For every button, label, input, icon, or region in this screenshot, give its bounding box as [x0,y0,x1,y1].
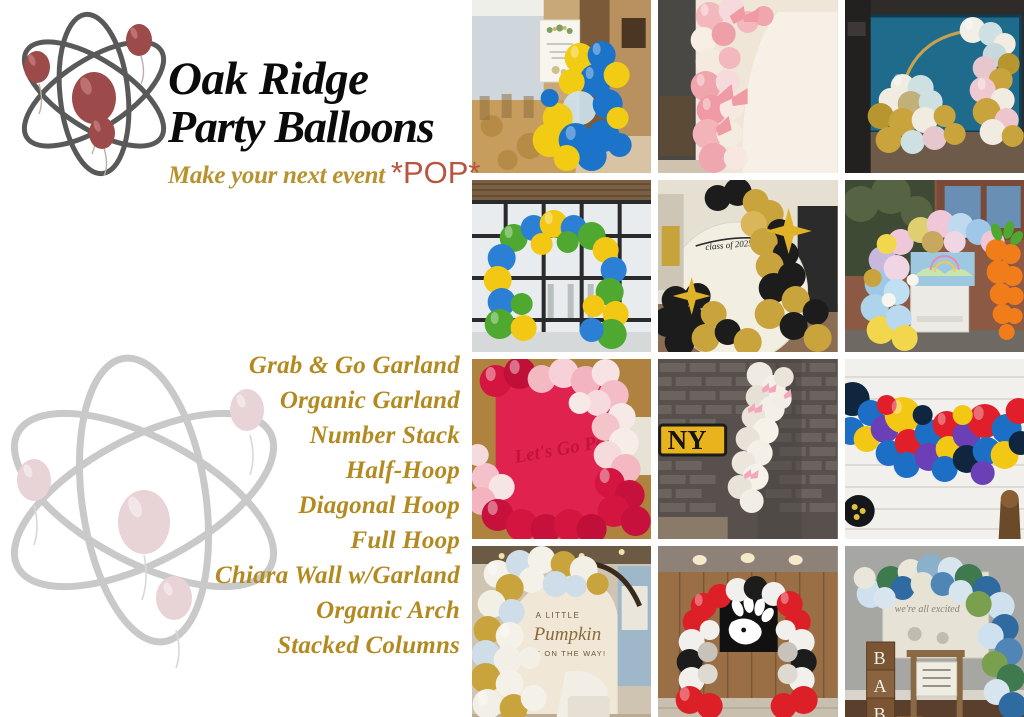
gallery-photo [658,546,837,717]
service-item: Chiara Wall w/Garland [120,558,460,593]
svg-text:B: B [873,648,885,668]
page-title-line-1: Oak Ridge [168,56,478,102]
svg-text:we're all excited: we're all excited [894,604,960,615]
gallery-photo [845,359,1024,539]
service-item: Stacked Columns [120,628,460,663]
svg-text:NY: NY [668,425,707,455]
flyer-page: Oak Ridge Party Balloons Make your next … [0,0,1024,717]
services-list: Grab & Go Garland Organic Garland Number… [120,348,460,663]
brand-text-block: Oak Ridge Party Balloons Make your next … [168,56,478,191]
gallery-photo [845,0,1024,173]
gallery-photo [472,180,651,352]
photo-gallery-grid: class of 2025 [472,0,1024,717]
service-item: Organic Garland [120,383,460,418]
svg-text:A LITTLE: A LITTLE [536,611,581,620]
svg-text:Pumpkin: Pumpkin [533,624,602,645]
tagline-pop-text: *POP* [391,155,481,191]
gallery-photo [472,0,651,173]
service-item: Half-Hoop [120,453,460,488]
tagline: Make your next event *POP* [168,155,478,191]
svg-text:B: B [873,704,885,717]
gallery-photo: we're all excited [845,546,1024,717]
tagline-main-text: Make your next event [168,162,385,190]
service-item: Diagonal Hoop [120,488,460,523]
gallery-photo: NY [658,359,837,539]
service-item: Grab & Go Garland [120,348,460,383]
service-item: Number Stack [120,418,460,453]
service-item: Organic Arch [120,593,460,628]
gallery-photo: Let's Go Party [472,359,651,539]
atom-balloons-icon [8,8,180,180]
svg-text:A: A [873,676,886,696]
gallery-photo: class of 2025 [658,180,837,352]
service-item: Full Hoop [120,523,460,558]
svg-text:IS ON THE WAY!: IS ON THE WAY! [532,649,607,658]
gallery-photo: A LITTLE Pumpkin IS ON THE WAY! [472,546,651,717]
page-title-line-2: Party Balloons [168,104,478,149]
gallery-photo [845,180,1024,352]
gallery-photo [658,0,837,173]
